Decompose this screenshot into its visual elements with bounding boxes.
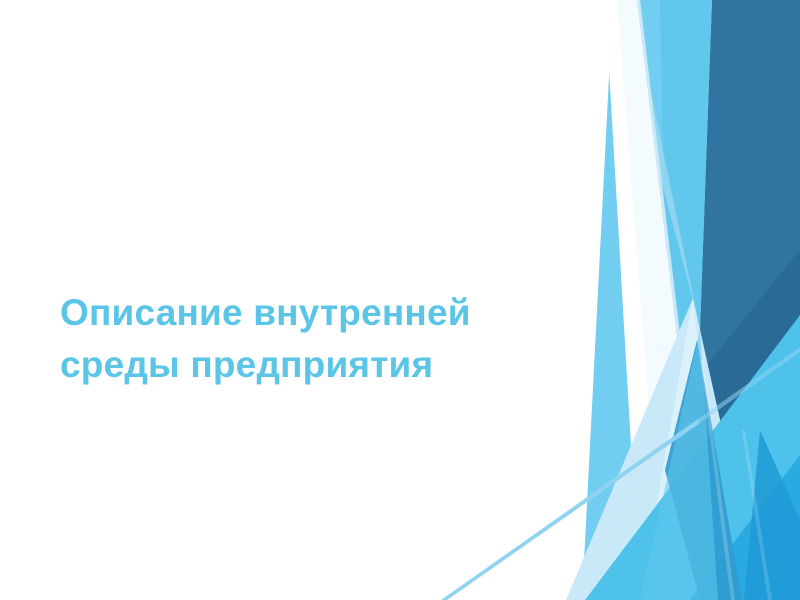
slide-title: Описание внутренней среды предприятия [60,287,560,391]
shape-dark-blue-lower-wedge [646,250,800,600]
shape-white-diagonal-gap [605,0,700,600]
shape-hairline-upper-continuation [698,347,800,423]
shape-faint-separator-b [742,430,772,600]
shape-cyan-overlay-blend [640,330,718,600]
shape-hairline-pale-edge [637,0,712,600]
shape-dark-blue-band [664,0,800,600]
shape-near-white-ribbon [617,0,711,600]
title-line-2: среды предприятия [60,339,560,391]
shape-pale-sliver-top [613,0,700,330]
shape-long-hairline-diagonal [441,419,700,600]
shape-mid-blue-vertical-band [665,340,742,600]
shape-cyan-sweep-deep [690,455,800,600]
shape-pale-blue-fan-highlight [640,298,726,600]
shape-azure-bottom-wedge [744,430,800,600]
shape-light-blue-ribbon-shade [660,0,712,470]
shape-cyan-diagonal-sweep [585,315,800,600]
title-line-1: Описание внутренней [60,287,560,339]
shape-pale-blue-fan [566,298,760,600]
shape-light-blue-ribbon [582,0,712,600]
shape-faint-separator-a [700,360,735,600]
slide-canvas: Описание внутренней среды предприятия [0,0,800,600]
shape-deep-blue-backdrop [690,0,800,600]
